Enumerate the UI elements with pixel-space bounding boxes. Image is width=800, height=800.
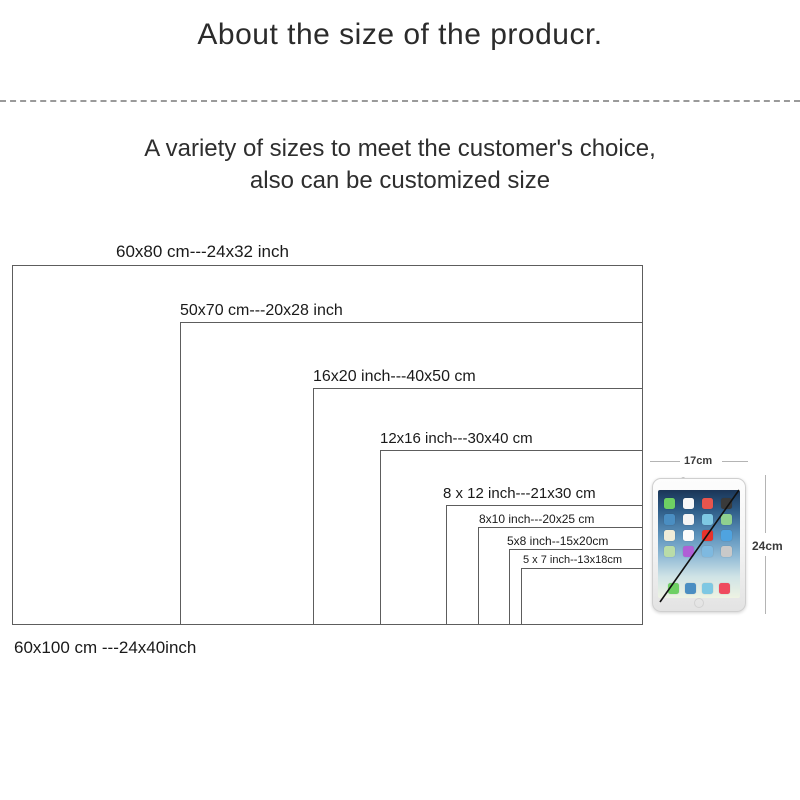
ipad-screen (658, 490, 740, 598)
size-label-50x70: 50x70 cm---20x28 inch (180, 303, 343, 319)
app-icon-7 (702, 514, 713, 525)
dock-icon-1 (668, 583, 679, 594)
app-icon-12 (721, 530, 732, 541)
app-icon-13 (664, 546, 675, 557)
app-icon-14 (683, 546, 694, 557)
ipad-dock (668, 583, 730, 594)
dimension-line-bottom (765, 556, 766, 614)
size-label-40x50: 16x20 inch---40x50 cm (313, 369, 476, 385)
size-label-30x40: 12x16 inch---30x40 cm (380, 431, 533, 446)
ipad-app-grid (664, 498, 734, 557)
ipad-reference-illustration: 17cm 9.7” 24cm (640, 450, 800, 640)
app-icon-15 (702, 546, 713, 557)
app-icon-3 (702, 498, 713, 509)
app-icon-8 (721, 514, 732, 525)
dock-icon-4 (719, 583, 730, 594)
app-icon-2 (683, 498, 694, 509)
dimension-line-top (765, 475, 766, 533)
size-label-60x80: 60x80 cm---24x32 inch (116, 243, 289, 260)
home-button-icon (694, 598, 704, 608)
dock-icon-3 (702, 583, 713, 594)
dimension-line-left (650, 461, 680, 462)
app-icon-6 (683, 514, 694, 525)
size-label-60x100: 60x100 cm ---24x40inch (14, 638, 196, 658)
app-icon-16 (721, 546, 732, 557)
ipad-width-label: 17cm (684, 455, 712, 467)
dimension-line-right (722, 461, 748, 462)
size-label-20x25: 8x10 inch---20x25 cm (479, 513, 594, 525)
size-rect-13x18 (521, 568, 643, 625)
size-label-15x20: 5x8 inch--15x20cm (507, 535, 608, 547)
size-label-21x30: 8 x 12 inch---21x30 cm (443, 486, 596, 501)
app-icon-10 (683, 530, 694, 541)
app-icon-1 (664, 498, 675, 509)
ipad-body (652, 478, 746, 612)
dock-icon-2 (685, 583, 696, 594)
app-icon-9 (664, 530, 675, 541)
ipad-height-label: 24cm (752, 539, 783, 553)
app-icon-4 (721, 498, 732, 509)
app-icon-11 (702, 530, 713, 541)
size-label-13x18: 5 x 7 inch--13x18cm (523, 555, 622, 566)
app-icon-5 (664, 514, 675, 525)
size-comparison-diagram: 60x80 cm---24x32 inch 50x70 cm---20x28 i… (0, 0, 800, 800)
